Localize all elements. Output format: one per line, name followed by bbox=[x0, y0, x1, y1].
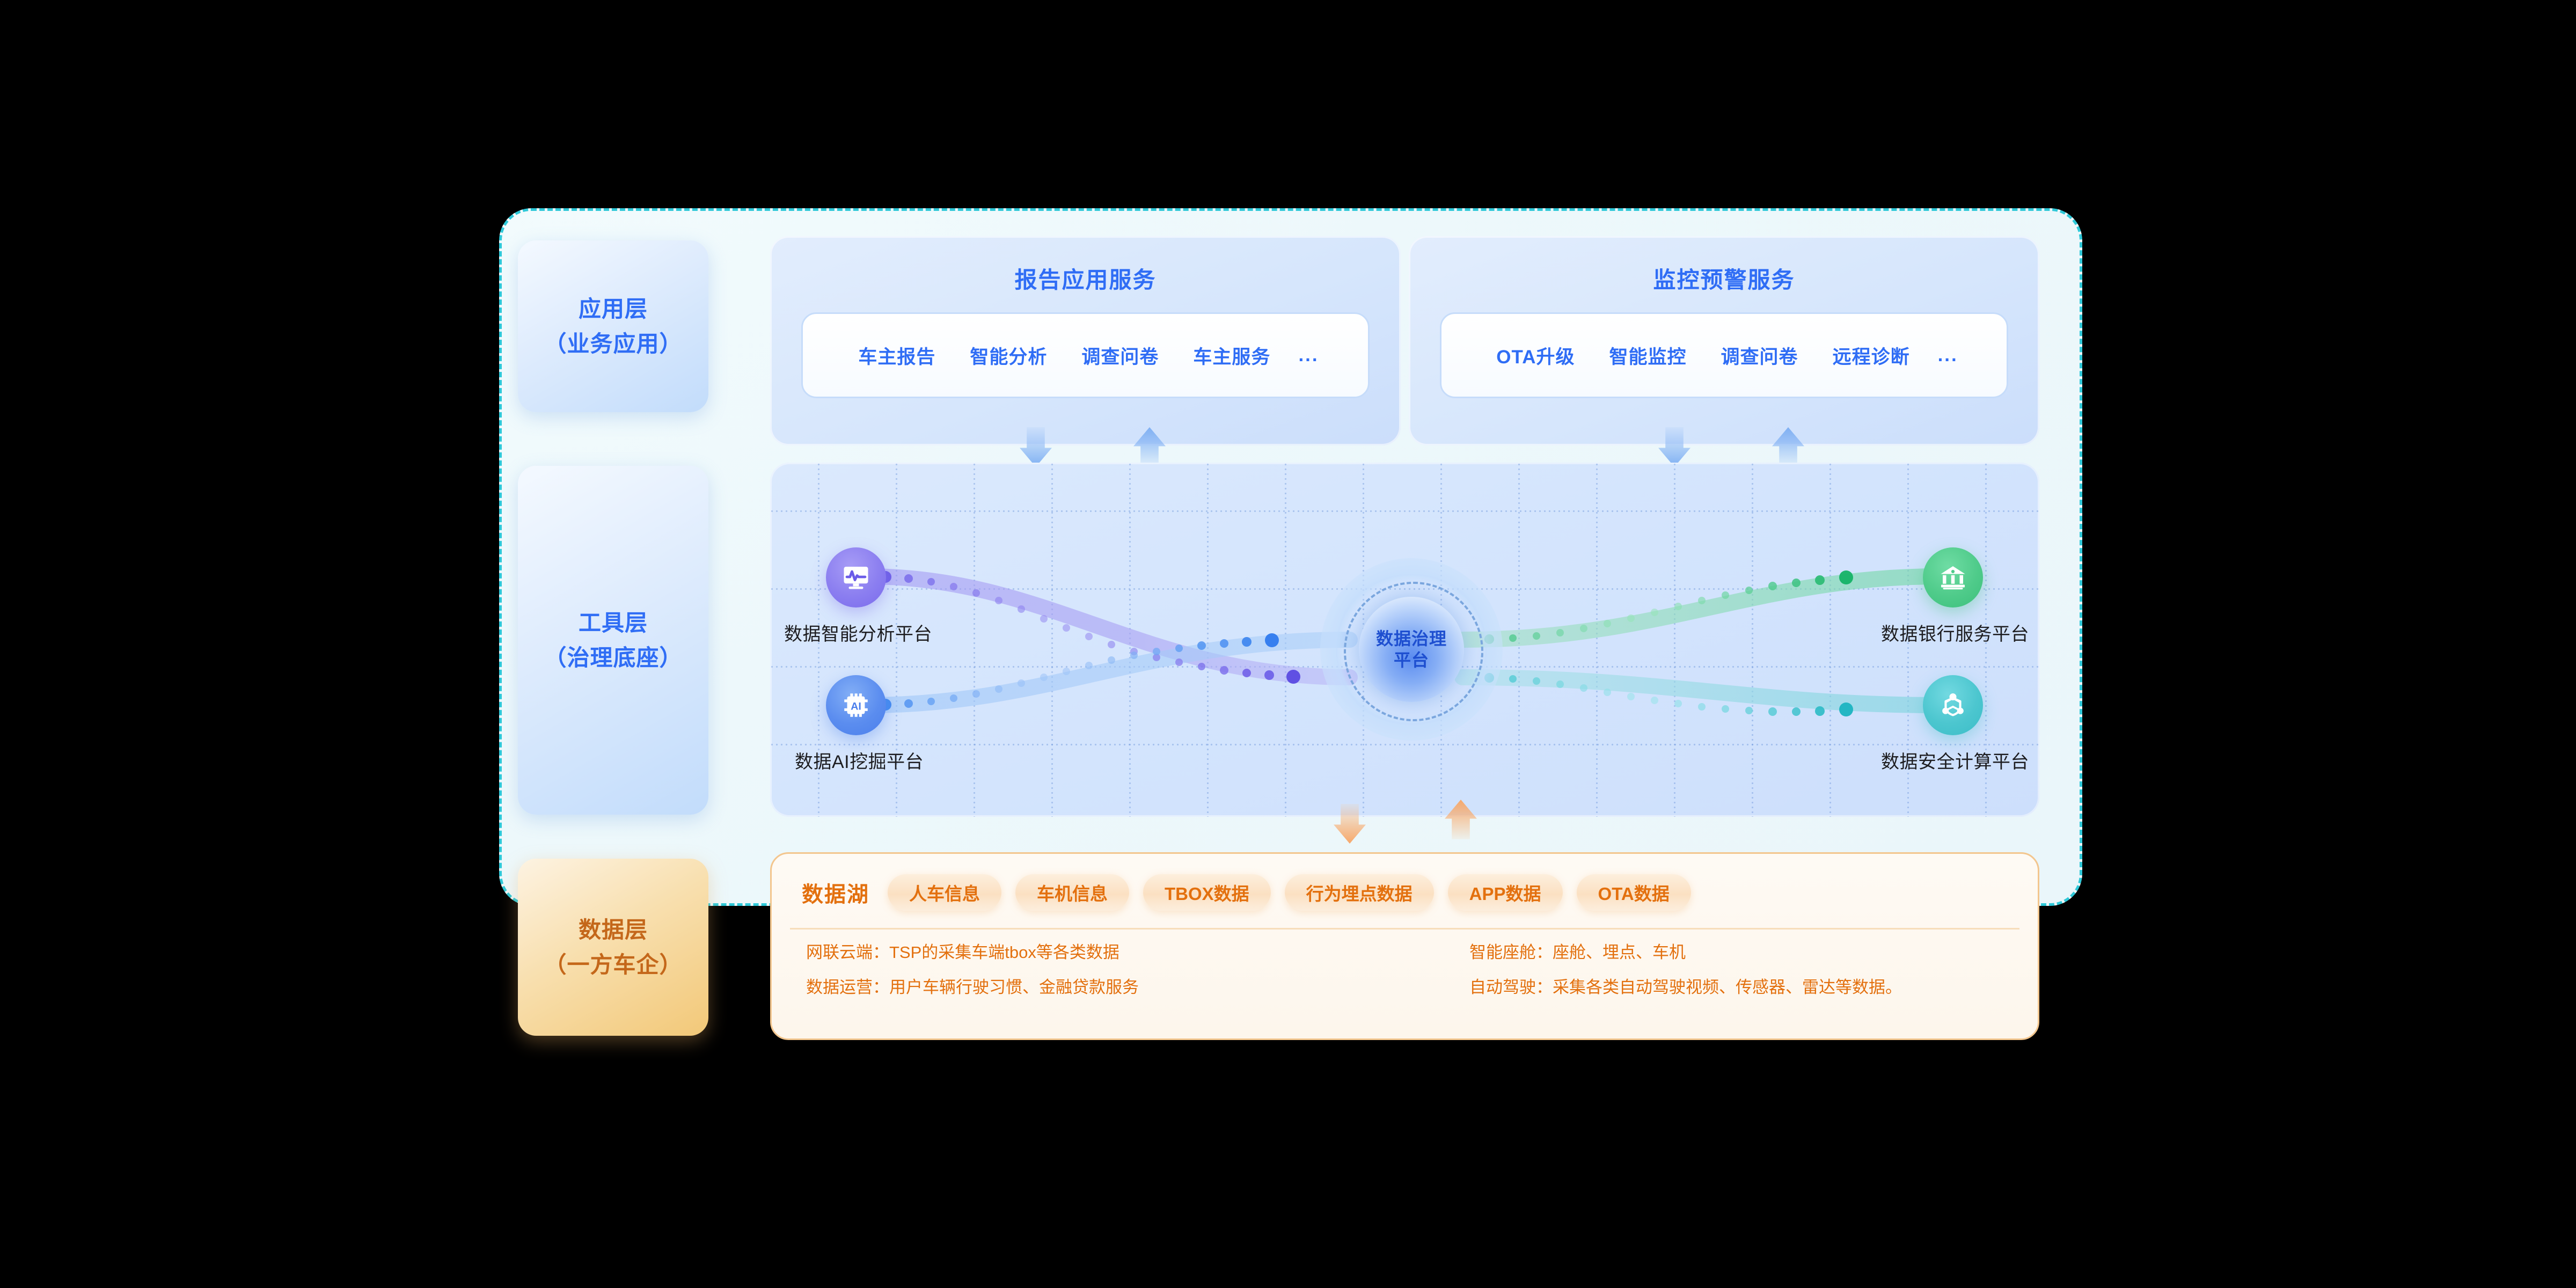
data-lake-tag[interactable]: 行为埋点数据 bbox=[1285, 874, 1434, 911]
monitor-pulse-icon bbox=[826, 547, 886, 608]
hub-label-line2: 平台 bbox=[1394, 649, 1429, 671]
application-tag[interactable]: 调查问卷 bbox=[1064, 342, 1176, 369]
layer-data-subtitle: （一方车企） bbox=[544, 947, 682, 982]
layer-application-subtitle: （业务应用） bbox=[544, 326, 682, 361]
svg-text:AI: AI bbox=[851, 701, 861, 713]
data-lake-description-line: 自动驾驶：采集各类自动驾驶视频、传感器、雷达等数据。 bbox=[1469, 979, 1902, 996]
application-tag-more[interactable]: ... bbox=[1927, 345, 1969, 366]
bank-glyph bbox=[1937, 561, 1969, 594]
monitor-pulse-glyph bbox=[840, 561, 872, 594]
data-lake-description-line: 智能座舱：座舱、埋点、车机 bbox=[1469, 944, 1902, 961]
ai-chip-glyph: AI bbox=[840, 690, 872, 721]
layer-tool-subtitle: （治理底座） bbox=[544, 640, 682, 675]
ai-chip-icon: AI bbox=[826, 675, 886, 735]
application-card-report: 报告应用服务 车主报告 智能分析 调查问卷 车主服务 ... bbox=[770, 236, 1401, 445]
tool-node-label: 数据安全计算平台 bbox=[1881, 747, 2029, 773]
data-lake-tag[interactable]: 人车信息 bbox=[888, 874, 1001, 911]
layer-application-title: 应用层 bbox=[544, 291, 682, 326]
data-lake-tag[interactable]: OTA数据 bbox=[1577, 874, 1691, 911]
diagram-stage: 应用层 （业务应用） 工具层 （治理底座） 数据层 （一方车企） 报告应用服务 … bbox=[0, 0, 2576, 1288]
data-lake-description-line: 网联云端：TSP的采集车端tbox等各类数据 bbox=[806, 944, 1139, 961]
application-tag[interactable]: 远程诊断 bbox=[1816, 342, 1927, 369]
secure-node-icon bbox=[1923, 675, 1983, 735]
data-lake-divider bbox=[790, 928, 2019, 930]
application-card-title: 监控预警服务 bbox=[1409, 262, 2039, 295]
data-lake-description-line: 数据运营：用户车辆行驶习惯、金融贷款服务 bbox=[806, 979, 1139, 996]
data-lake-tag[interactable]: APP数据 bbox=[1448, 874, 1563, 911]
tool-node-label: 数据AI挖掘平台 bbox=[795, 747, 924, 773]
data-lake-description-left: 网联云端：TSP的采集车端tbox等各类数据 数据运营：用户车辆行驶习惯、金融贷… bbox=[806, 944, 1139, 1014]
layer-data-title: 数据层 bbox=[544, 912, 682, 947]
application-tag-more[interactable]: ... bbox=[1287, 345, 1329, 366]
application-tag[interactable]: OTA升级 bbox=[1479, 342, 1592, 369]
layer-chip-data: 数据层 （一方车企） bbox=[518, 859, 708, 1036]
application-tag-pill: OTA升级 智能监控 调查问卷 远程诊断 ... bbox=[1440, 312, 2008, 398]
data-lake-tag-row: 数据湖 人车信息 车机信息 TBOX数据 行为埋点数据 APP数据 OTA数据 bbox=[793, 868, 1705, 917]
tool-node-label: 数据银行服务平台 bbox=[1881, 619, 2029, 646]
layer-chip-application: 应用层 （业务应用） bbox=[518, 240, 708, 412]
layer-chip-tool: 工具层 （治理底座） bbox=[518, 466, 708, 815]
application-tag[interactable]: 智能监控 bbox=[1592, 342, 1704, 369]
data-lake-description-right: 智能座舱：座舱、埋点、车机 自动驾驶：采集各类自动驾驶视频、传感器、雷达等数据。 bbox=[1469, 944, 1902, 1014]
layer-tool-title: 工具层 bbox=[544, 605, 682, 640]
data-lake-card: 数据湖 人车信息 车机信息 TBOX数据 行为埋点数据 APP数据 OTA数据 … bbox=[770, 852, 2039, 1040]
tool-node-label: 数据智能分析平台 bbox=[784, 619, 932, 646]
application-tag[interactable]: 车主报告 bbox=[841, 342, 953, 369]
data-lake-title: 数据湖 bbox=[793, 877, 888, 908]
application-card-monitor: 监控预警服务 OTA升级 智能监控 调查问卷 远程诊断 ... bbox=[1409, 236, 2039, 445]
hub-core-sphere: 数据治理 平台 bbox=[1359, 597, 1464, 702]
data-lake-tag[interactable]: TBOX数据 bbox=[1143, 874, 1271, 911]
hub-label-line1: 数据治理 bbox=[1376, 628, 1447, 649]
application-tag-pill: 车主报告 智能分析 调查问卷 车主服务 ... bbox=[801, 312, 1370, 398]
data-lake-tag[interactable]: 车机信息 bbox=[1015, 874, 1129, 911]
secure-node-glyph bbox=[1937, 690, 1968, 721]
governance-hub[interactable]: 数据治理 平台 bbox=[1320, 558, 1503, 741]
bank-icon bbox=[1923, 547, 1983, 608]
application-tag[interactable]: 调查问卷 bbox=[1704, 342, 1816, 369]
application-card-title: 报告应用服务 bbox=[770, 262, 1401, 295]
application-tag[interactable]: 车主服务 bbox=[1176, 342, 1287, 369]
application-tag[interactable]: 智能分析 bbox=[953, 342, 1064, 369]
